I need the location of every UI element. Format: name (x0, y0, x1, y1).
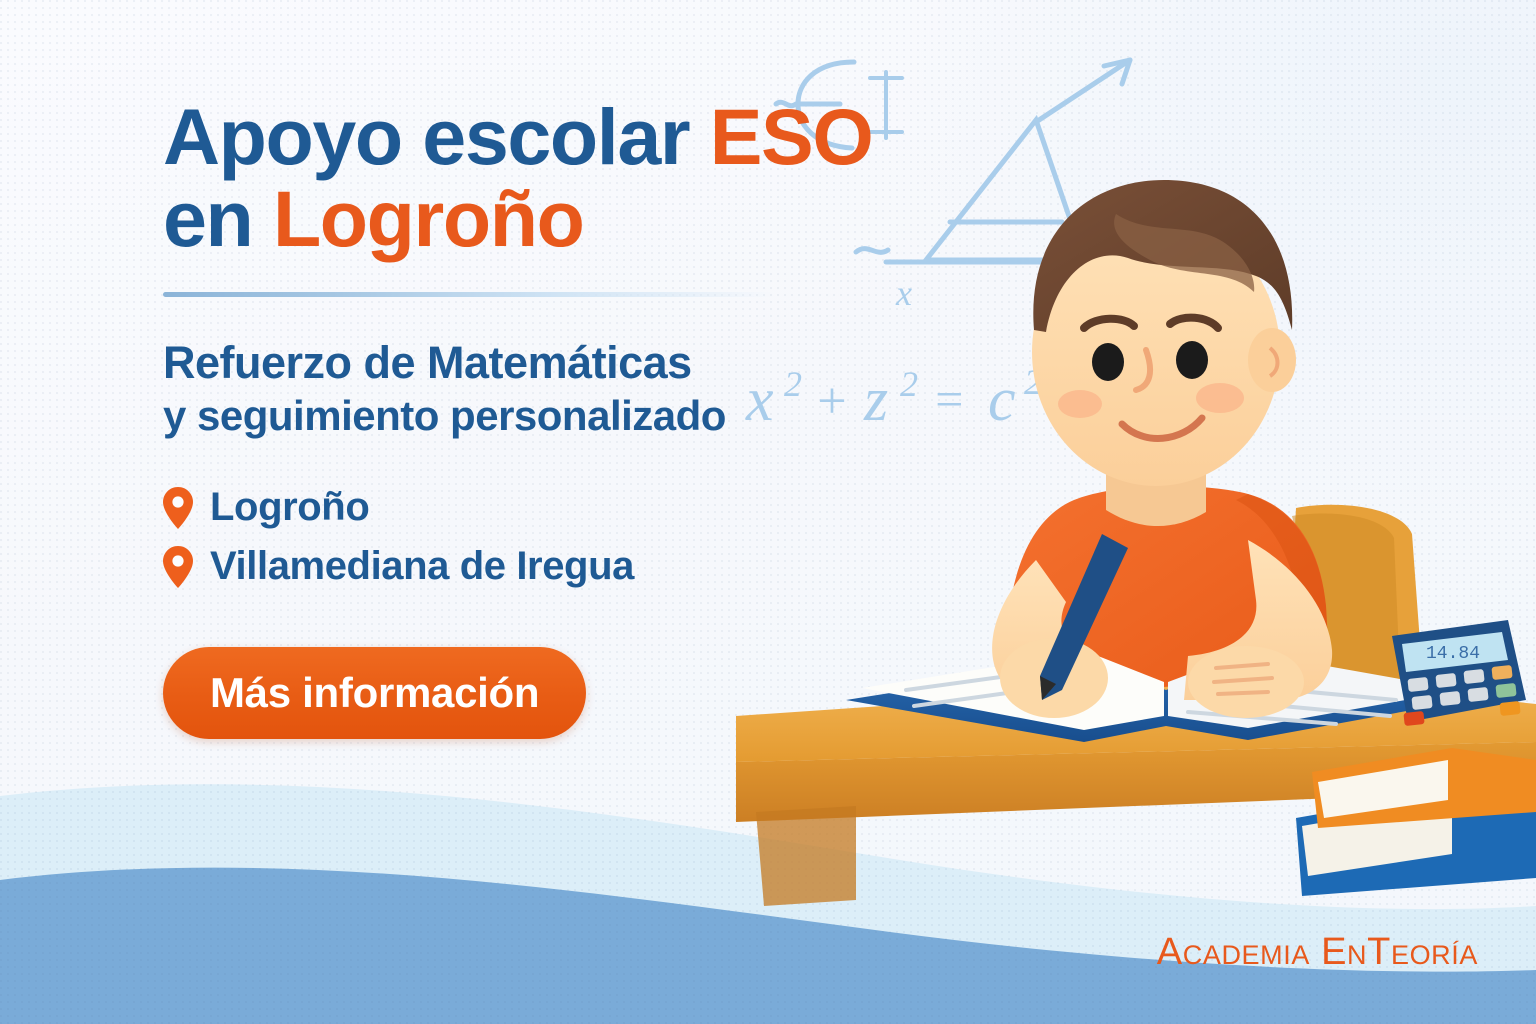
boy-eye-right (1176, 341, 1208, 379)
subtitle-block: Refuerzo de Matemáticas y seguimiento pe… (163, 336, 880, 444)
cheek-right (1196, 383, 1244, 413)
subtitle-line-2: y seguimiento personalizado (163, 390, 880, 443)
headline-line2-accent: Logroño (273, 174, 583, 263)
locations-list: Logroño Villamediana de Iregua (163, 485, 880, 589)
title-divider (163, 292, 773, 297)
subtitle-line-1: Refuerzo de Matemáticas (163, 336, 880, 391)
headline-line1-accent: ESO (710, 92, 873, 181)
svg-text:14.84: 14.84 (1426, 644, 1480, 664)
map-pin-icon (163, 487, 193, 529)
list-item-location-1: Logroño (163, 485, 880, 530)
svg-text:c: c (988, 366, 1016, 434)
list-item-location-2: Villamediana de Iregua (163, 544, 880, 589)
cheek-left (1058, 390, 1102, 418)
svg-text:=: = (932, 371, 966, 427)
brand-logo: Academia EnTeoría (1157, 931, 1478, 974)
promo-banner: x x 2 + z 2 = c 2 (0, 0, 1536, 1024)
boy-ear (1248, 328, 1296, 392)
page-title: Apoyo escolar ESOen Logroño (163, 96, 880, 260)
calculator: 14.84 (1392, 620, 1526, 726)
svg-text:x: x (895, 273, 912, 313)
headline-line1-plain: Apoyo escolar (163, 92, 710, 181)
more-info-button[interactable]: Más información (163, 647, 586, 739)
banner-content: Apoyo escolar ESOen Logroño Refuerzo de … (0, 0, 880, 1024)
map-pin-icon (163, 546, 193, 588)
boy-eye-left (1092, 343, 1124, 381)
boy-hand-resting (1188, 646, 1304, 718)
headline-line2-plain: en (163, 174, 273, 263)
location-label: Villamediana de Iregua (210, 544, 634, 589)
svg-text:2: 2 (900, 364, 918, 404)
location-label: Logroño (210, 485, 369, 530)
